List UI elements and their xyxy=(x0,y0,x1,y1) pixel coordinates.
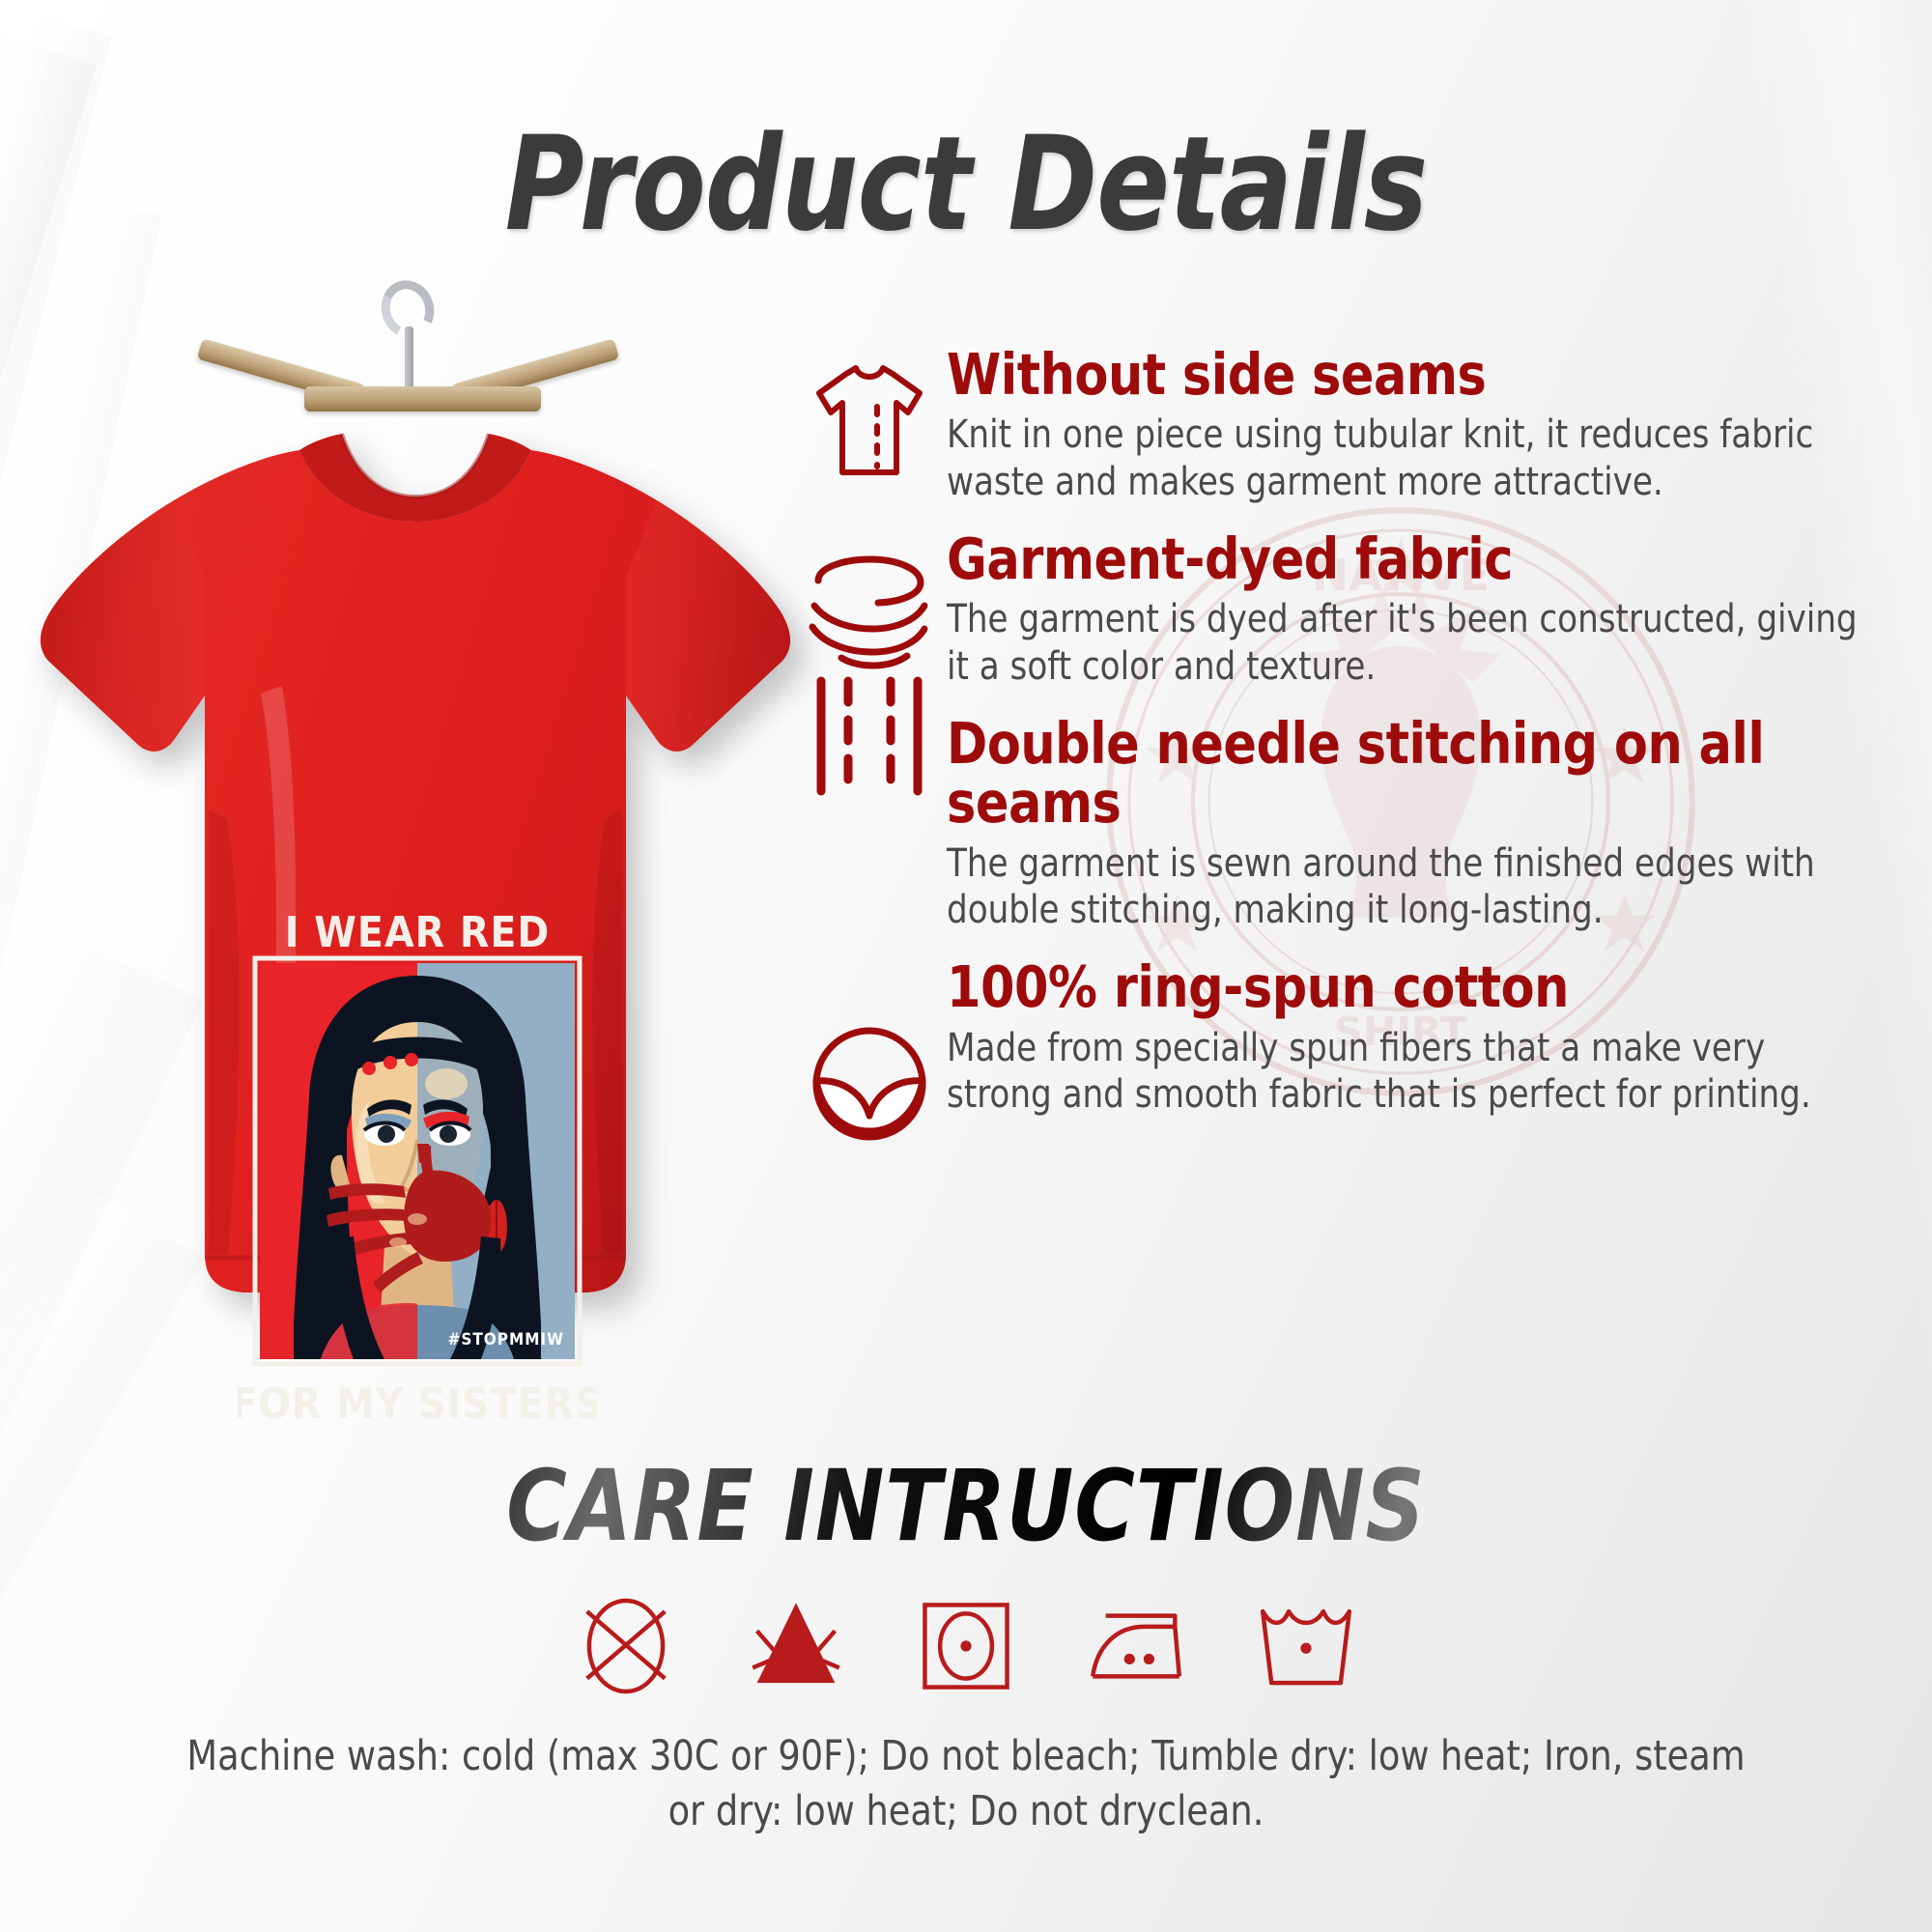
feature-item: 100% ring-spun cotton Made from speciall… xyxy=(792,955,1913,1119)
feature-item: Double needle stitching on all seams The… xyxy=(792,712,1913,934)
feature-description: Made from specially spun fibers that a m… xyxy=(947,1025,1864,1120)
cotton-boll-icon xyxy=(792,955,947,1100)
feature-title: 100% ring-spun cotton xyxy=(947,957,1874,1016)
feature-description: Knit in one piece using tubular knit, it… xyxy=(947,412,1864,506)
tshirt-no-side-seam-icon xyxy=(792,343,947,488)
feature-list: Without side seams Knit in one piece usi… xyxy=(792,343,1913,1140)
tumble-dry-low-icon xyxy=(912,1592,1020,1700)
svg-text:FOR MY SISTERS: FOR MY SISTERS xyxy=(238,1379,597,1429)
double-needle-stitch-icon xyxy=(792,712,947,857)
feature-item: Garment-dyed fabric The garment is dyed … xyxy=(792,527,1913,691)
product-details-infographic: NATIVE SHIRT Product Details xyxy=(0,0,1932,1932)
feature-title: Garment-dyed fabric xyxy=(947,529,1874,588)
do-not-bleach-icon xyxy=(742,1592,850,1700)
page-title: Product Details xyxy=(77,108,1855,260)
care-symbol-row xyxy=(0,1592,1932,1700)
care-instructions-title: CARE INTRUCTIONS xyxy=(68,1449,1864,1564)
feature-title: Double needle stitching on all seams xyxy=(947,714,1874,833)
feature-title: Without side seams xyxy=(947,345,1874,404)
do-not-dryclean-icon xyxy=(572,1592,680,1700)
feature-description: The garment is dyed after it's been cons… xyxy=(947,596,1864,691)
tshirt-mockup xyxy=(29,404,802,1360)
machine-wash-cold-icon xyxy=(1252,1592,1360,1700)
feature-description: The garment is sewn around the finished … xyxy=(947,840,1864,935)
fabric-dye-coil-icon xyxy=(792,527,947,672)
feature-item: Without side seams Knit in one piece usi… xyxy=(792,343,1913,506)
care-instructions-text: Machine wash: cold (max 30C or 90F); Do … xyxy=(177,1729,1755,1839)
product-photo: I WEAR RED xyxy=(10,280,811,1372)
iron-low-heat-icon xyxy=(1082,1592,1190,1700)
